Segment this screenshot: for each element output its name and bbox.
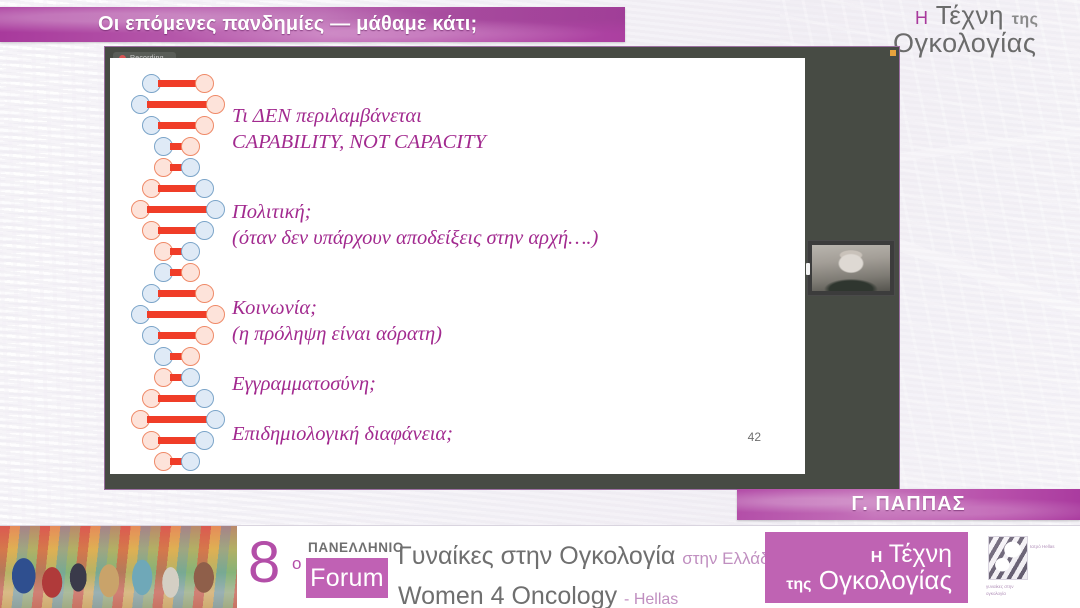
slide-text-block-4: Εγγραμματοσύνη; [232,371,772,397]
banner-thumbnail-caption: γυναίκες στην ογκολογία [986,584,1034,598]
slide-text-block-3: Κοινωνία; (η πρόληψη είναι αόρατη) [232,295,772,347]
webcam-drag-handle[interactable] [806,263,810,275]
bottom-brand-word-techni: Τέχνη [889,540,952,568]
bottom-brand-word-tis: της [786,576,811,593]
session-title-bar: Οι επόμενες πανδημίες — μάθαμε κάτι; [0,7,625,42]
brand-logo-line2: Ογκολογίας [893,30,1068,57]
banner-title-greek-main: Γυναίκες στην Ογκολογία [398,542,675,570]
banner-painting-artwork [0,526,237,608]
forum-edition-number: 8 [248,534,280,592]
webcam-video-feed [812,245,890,291]
slide-line: CAPABILITY, NOT CAPACITY [232,129,772,155]
brand-logo-word-tis: της [1012,11,1039,28]
brand-logo-bottom-right: Η Τέχνη της Ογκολογίας [765,532,968,603]
slide-line: Κοινωνία; [232,295,772,321]
frame-corner-marker-icon [890,50,896,56]
forum-panhellenic-label: ΠΑΝΕΛΛΗΝΙΟ [308,540,404,555]
bottom-brand-article: Η [871,549,883,566]
screen-root: Οι επόμενες πανδημίες — μάθαμε κάτι; Η Τ… [0,0,1080,608]
forum-edition-ordinal: ο [292,554,301,574]
slide-line: Επιδημιολογική διαφάνεια; [232,421,772,447]
presentation-slide: Τι ΔΕΝ περιλαμβάνεται CAPABILITY, NOT CA… [110,58,805,474]
dna-helix-graphic [128,74,220,464]
speaker-name-bar: Γ. ΠΑΠΠΑΣ [737,489,1080,520]
slide-line: (όταν δεν υπάρχουν αποδείξεις στην αρχή…… [232,225,772,251]
slide-text-block-2: Πολιτική; (όταν δεν υπάρχουν αποδείξεις … [232,199,772,251]
brand-logo-word-techni: Τέχνη [936,0,1004,30]
slide-line: Εγγραμματοσύνη; [232,371,772,397]
slide-text-block-5: Επιδημιολογική διαφάνεια; [232,421,772,447]
banner-title-english-soft: - Hellas [624,591,678,608]
brand-logo-line1: Η Τέχνη της [893,2,1068,28]
forum-word: Forum [310,564,384,593]
speaker-webcam-tile[interactable] [807,240,895,296]
forum-word-box: Forum [306,558,388,598]
slide-line: Τι ΔΕΝ περιλαμβάνεται [232,103,772,129]
slide-text-block-1: Τι ΔΕΝ περιλαμβάνεται CAPABILITY, NOT CA… [232,103,772,155]
page-title: Οι επόμενες πανδημίες — μάθαμε κάτι; [98,13,477,36]
bottom-banner: 8 ο ΠΑΝΕΛΛΗΝΙΟ Forum Γυναίκες στην Ογκολ… [0,525,1080,608]
bottom-brand-line1: Η Τέχνη [871,541,952,567]
slide-line: (η πρόληψη είναι αόρατη) [232,321,772,347]
speaker-name: Γ. ΠΑΠΠΑΣ [851,493,965,516]
slide-page-number: 42 [748,430,761,444]
slide-line: Πολιτική; [232,199,772,225]
bottom-brand-word-ogkologias: Ογκολογίας [819,565,952,595]
bottom-brand-line2: της Ογκολογίας [786,567,952,594]
banner-title-english-main: Women 4 Oncology [398,582,617,608]
brand-logo-article: Η [915,8,929,28]
slide-body-text: Τι ΔΕΝ περιλαμβάνεται CAPABILITY, NOT CA… [232,103,772,471]
banner-thumbnail-image [988,536,1028,580]
banner-thumbnail-tag: Ιατρό Hellas [1030,544,1054,551]
brand-logo-top-right: Η Τέχνη της Ογκολογίας [893,2,1068,62]
